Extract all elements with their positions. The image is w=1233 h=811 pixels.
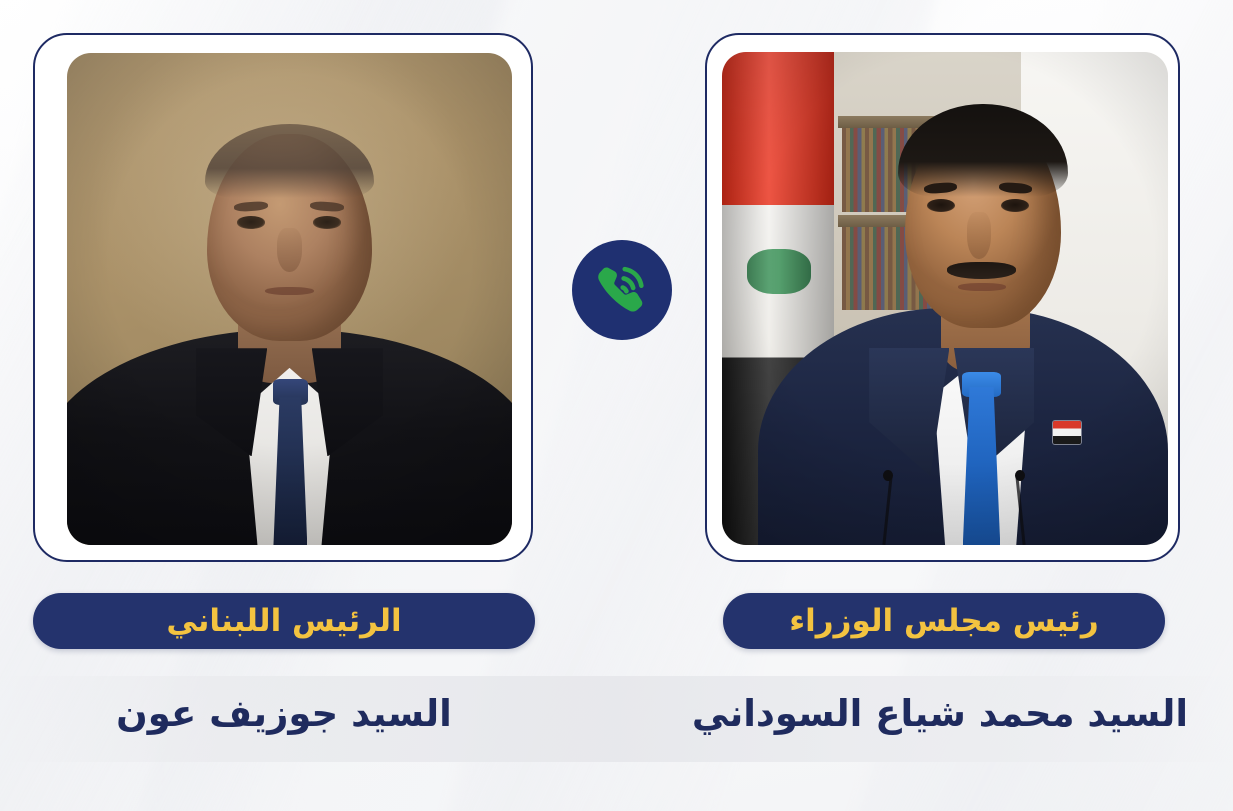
person-name-left: السيد جوزيف عون xyxy=(33,692,535,735)
title-pill-right: رئيس مجلس الوزراء xyxy=(723,593,1165,649)
person-name-right: السيد محمد شياع السوداني xyxy=(690,692,1190,735)
portrait-photo-right xyxy=(722,52,1168,545)
phone-call-badge xyxy=(572,240,672,340)
left-photo-vignette xyxy=(67,53,512,545)
announcement-card: الرئيس اللبناني رئيس مجلس الوزراء السيد … xyxy=(0,0,1233,811)
portrait-photo-left xyxy=(67,53,512,545)
phone-call-icon xyxy=(591,259,653,321)
title-pill-left: الرئيس اللبناني xyxy=(33,593,535,649)
right-photo-vignette xyxy=(722,52,1168,545)
